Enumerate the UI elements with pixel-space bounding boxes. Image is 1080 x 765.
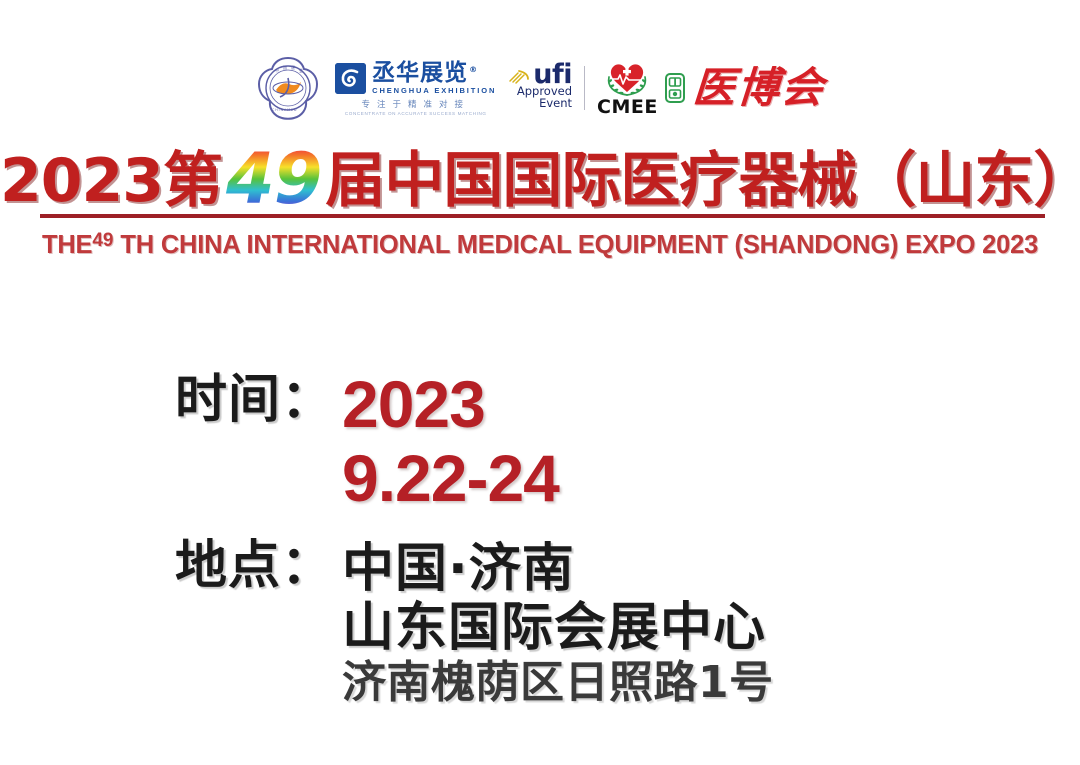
- chenghua-name-cn: 丞华展览®: [372, 62, 496, 85]
- logo-divider: [584, 66, 585, 110]
- ufi-event-line: Event: [508, 98, 572, 110]
- title-divider-rule: [40, 214, 1045, 218]
- green-chip-icon: [665, 73, 685, 103]
- title-edition-number: 49: [222, 144, 325, 214]
- svg-text:会: 会: [299, 67, 303, 73]
- time-dates: 9.22-24: [342, 442, 559, 516]
- ufi-swoosh-icon: [508, 67, 532, 85]
- logo-strip: 中国医会 C H I N A M E D 丞华展览® CHENGHUA EXHI…: [0, 52, 1080, 124]
- place-label: 地点：: [175, 540, 334, 593]
- place-venue: 山东国际会展中心: [342, 599, 774, 658]
- title-suffix: 届中国国际医疗器械（山东）博览会: [325, 146, 1080, 216]
- svg-text:国: 国: [283, 64, 287, 70]
- svg-text:中: 中: [275, 67, 279, 73]
- chenghua-name-en: CHENGHUA EXHIBITION: [372, 87, 496, 95]
- place-values: 中国·济南 山东国际会展中心 济南槐荫区日照路1号: [342, 540, 774, 709]
- place-city: 中国·济南: [342, 540, 774, 599]
- ufi-approved-event-logo: ufi Approved Event: [508, 64, 572, 110]
- event-time-row: 时间： 2023 9.22-24: [175, 368, 995, 516]
- english-subtitle-post: TH CHINA INTERNATIONAL MEDICAL EQUIPMENT…: [113, 231, 1038, 259]
- title-prefix: 2023第: [0, 146, 222, 216]
- cmee-wordmark: CMEE: [597, 98, 658, 117]
- event-place-row: 地点： 中国·济南 山东国际会展中心 济南槐荫区日照路1号: [175, 540, 995, 709]
- main-title: 2023第49届中国国际医疗器械（山东）博览会: [0, 142, 1080, 212]
- english-subtitle-pre: THE: [42, 231, 92, 259]
- time-year: 2023: [342, 368, 559, 442]
- chenghua-tagline-cn: 专注于精准对接: [361, 98, 470, 110]
- english-subtitle-superscript: 49: [92, 230, 113, 251]
- time-values: 2023 9.22-24: [342, 368, 559, 516]
- title-block: 2023第49届中国国际医疗器械（山东）博览会: [0, 142, 1080, 212]
- time-label: 时间：: [175, 374, 334, 427]
- event-info-block: 时间： 2023 9.22-24 地点： 中国·济南 山东国际会展中心 济南槐荫…: [175, 368, 995, 709]
- english-subtitle: THE49 TH CHINA INTERNATIONAL MEDICAL EQU…: [0, 230, 1080, 260]
- heart-laurel-emblem-icon: [599, 59, 655, 99]
- association-seal-logo: 中国医会 C H I N A M E D: [255, 55, 321, 121]
- ufi-wordmark: ufi: [533, 64, 572, 86]
- yibohui-calligraphy: 医博会: [691, 67, 826, 109]
- spiral-mark-icon: [335, 63, 366, 94]
- chenghua-tagline-en: CONCENTRATE ON ACCURATE SUCCESS MATCHING: [345, 111, 487, 116]
- svg-text:C H I N A M E D: C H I N A M E D: [272, 108, 297, 112]
- cmee-logo: CMEE: [597, 59, 658, 117]
- chenghua-exhibition-logo: 丞华展览® CHENGHUA EXHIBITION 专注于精准对接 CONCEN…: [335, 62, 496, 116]
- place-address: 济南槐荫区日照路1号: [342, 658, 774, 708]
- registered-mark: ®: [469, 65, 478, 74]
- svg-text:医: 医: [291, 65, 295, 70]
